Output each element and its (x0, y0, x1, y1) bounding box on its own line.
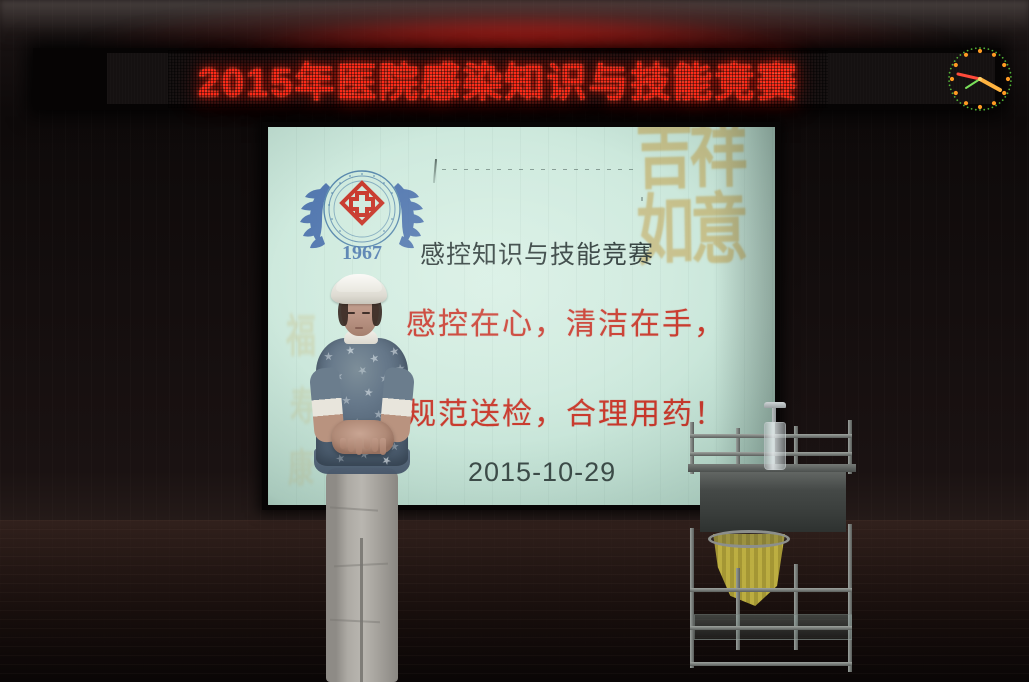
trolley-rail (690, 662, 852, 666)
nurse-cap-crown (336, 274, 382, 292)
presenter-trouser-seam (360, 538, 363, 682)
presenter-mouth (355, 327, 363, 329)
trolley-post (848, 524, 852, 672)
led-banner-title: 2015年医院感染知识与技能竞赛 (168, 50, 828, 108)
soap-pump-stem (772, 406, 776, 422)
trolley-rail (690, 588, 852, 592)
led-clock-icon (938, 40, 1022, 118)
soap-dispenser-icon (764, 422, 786, 470)
stage-scene: 2015年医院感染知识与技能竞赛 吉祥如意 福 寿 康 (0, 0, 1029, 682)
presenter-fingers (340, 438, 386, 454)
trolley-rail (690, 626, 852, 630)
nurse-presenter (300, 272, 428, 682)
waste-bag-ring (708, 530, 790, 548)
led-red-glow (85, 0, 955, 54)
floor-wood-grain (0, 520, 1029, 682)
presenter-eye-right (362, 312, 370, 314)
presenter-eye-left (347, 312, 355, 314)
soap-pump-head (764, 402, 786, 408)
trolley-drawer-sheen (700, 472, 846, 490)
medical-trolley (684, 418, 860, 682)
trolley-post (690, 528, 694, 668)
